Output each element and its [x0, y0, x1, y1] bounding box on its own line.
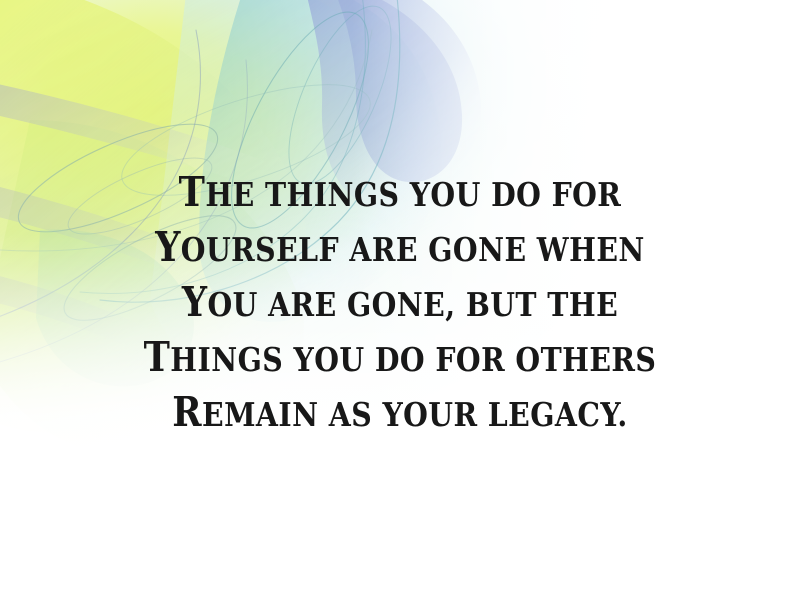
quote-line-lead: R [172, 388, 202, 436]
quote-line-lead: T [144, 333, 171, 381]
quote-slide: THE THINGS YOU DO FOR YOURSELF ARE GONE … [0, 0, 800, 613]
quote-line-lead: T [179, 168, 206, 216]
quote-line-rest: EMAIN AS YOUR LEGACY. [202, 395, 628, 434]
quote-line-rest: OU ARE GONE, BUT THE [207, 285, 618, 324]
quote-line-lead: Y [155, 223, 181, 271]
quote-line: REMAIN AS YOUR LEGACY. [56, 386, 744, 441]
quote-line-lead: Y [182, 278, 208, 326]
quote-line: YOU ARE GONE, BUT THE [56, 276, 744, 331]
quote-line-rest: HINGS YOU DO FOR OTHERS [170, 340, 656, 379]
quote-line: THE THINGS YOU DO FOR [56, 166, 744, 221]
quote-line: YOURSELF ARE GONE WHEN [56, 221, 744, 276]
quote-text-block: THE THINGS YOU DO FOR YOURSELF ARE GONE … [0, 166, 800, 441]
quote-line-rest: HE THINGS YOU DO FOR [205, 175, 621, 214]
quote-line: THINGS YOU DO FOR OTHERS [56, 331, 744, 386]
quote-line-rest: OURSELF ARE GONE WHEN [181, 230, 645, 269]
shape-periwinkle-crescent [330, 0, 462, 182]
